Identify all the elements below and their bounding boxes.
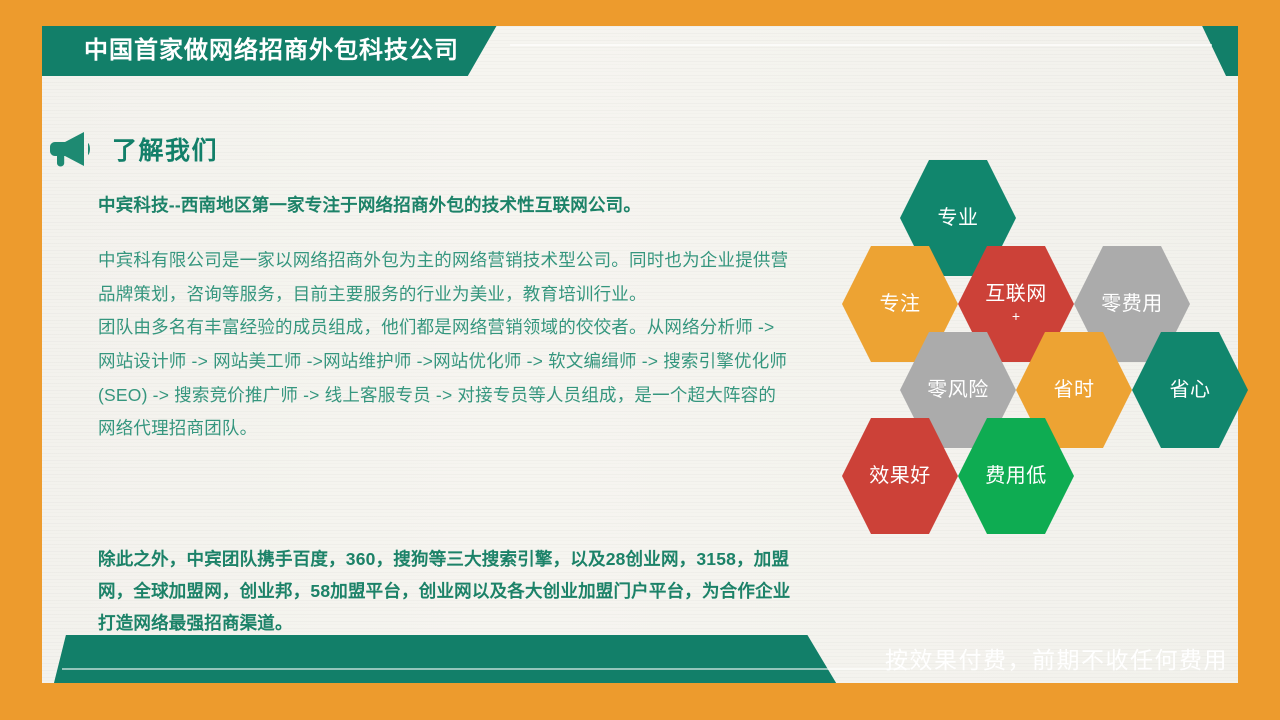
section-title: 了解我们 xyxy=(112,131,218,167)
section-heading: 了解我们 xyxy=(48,130,218,168)
megaphone-icon xyxy=(48,130,92,168)
hexagon-label: 省时 xyxy=(1054,379,1095,402)
header-divider-line xyxy=(510,44,1212,46)
hexagon-label: 费用低 xyxy=(985,465,1047,488)
hexagon-label: 省心 xyxy=(1170,379,1211,402)
hexagon-label: 互联网 xyxy=(985,283,1047,306)
hexagon-label: 零风险 xyxy=(927,379,989,402)
hexagon-label: 零费用 xyxy=(1101,293,1163,316)
body-paragraph-2: 团队由多名有丰富经验的成员组成，他们都是网络营销领域的佼佼者。从网络分析师 ->… xyxy=(98,311,790,445)
about-copy: 中宾科技--西南地区第一家专注于网络招商外包的技术性互联网公司。 中宾科有限公司… xyxy=(98,192,790,446)
hexagon-sublabel: + xyxy=(1012,308,1020,324)
hexagon-label: 效果好 xyxy=(869,465,931,488)
value-hexagon-cluster: 专业专注互联网+零费用零风险省时省心效果好费用低 xyxy=(830,160,1230,540)
footer-tagline: 按效果付费，前期不收任何费用 xyxy=(885,637,1228,683)
lead-paragraph: 中宾科技--西南地区第一家专注于网络招商外包的技术性互联网公司。 xyxy=(98,192,790,218)
body-paragraph-1: 中宾科有限公司是一家以网络招商外包为主的网络营销技术型公司。同时也为企业提供营品… xyxy=(98,244,790,311)
hexagon-label: 专业 xyxy=(938,207,979,230)
footer-divider-line xyxy=(62,668,910,670)
slide-root: 中国首家做网络招商外包科技公司 了解我们 中宾科技--西南地区第一家专注于网络招… xyxy=(0,0,1280,720)
hexagon-label: 专注 xyxy=(880,293,921,316)
closing-paragraph: 除此之外，中宾团队携手百度，360，搜狗等三大搜索引擎，以及28创业网，3158… xyxy=(98,543,798,640)
header-title: 中国首家做网络招商外包科技公司 xyxy=(84,26,459,76)
